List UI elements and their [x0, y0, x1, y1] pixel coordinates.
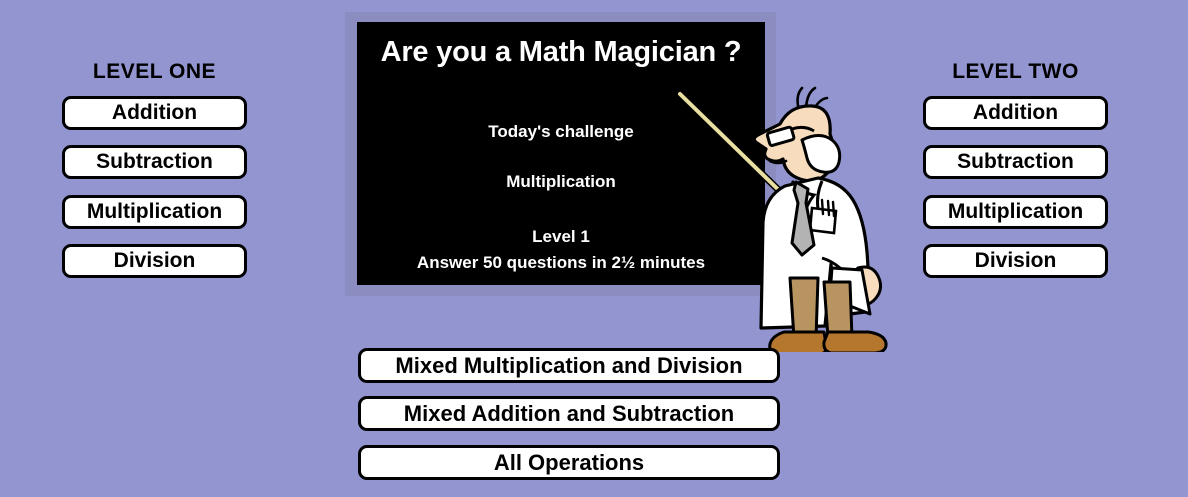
- trousers: [790, 278, 852, 338]
- shoes: [770, 332, 886, 352]
- math-magician-screen: LEVEL ONE Addition Subtraction Multiplic…: [0, 0, 1188, 497]
- mixed-multiplication-division-button[interactable]: Mixed Multiplication and Division: [358, 348, 780, 383]
- level-one-addition-button[interactable]: Addition: [62, 96, 247, 130]
- all-operations-button[interactable]: All Operations: [358, 445, 780, 480]
- level-two-subtraction-button[interactable]: Subtraction: [923, 145, 1108, 179]
- level-one-multiplication-button[interactable]: Multiplication: [62, 195, 247, 229]
- side-hair: [802, 136, 840, 173]
- lab-coat: [761, 178, 868, 328]
- held-paper: [830, 268, 870, 320]
- necktie: [792, 182, 814, 255]
- blackboard-instruction: Answer 50 questions in 2½ minutes: [357, 253, 765, 273]
- blackboard-panel: Are you a Math Magician ? Today's challe…: [357, 22, 765, 285]
- blackboard-level: Level 1: [357, 227, 765, 247]
- blackboard-challenge-label: Today's challenge: [357, 122, 765, 142]
- level-one-division-button[interactable]: Division: [62, 244, 247, 278]
- blackboard-frame: Are you a Math Magician ? Today's challe…: [345, 12, 776, 296]
- hair-wisps: [798, 88, 827, 111]
- blackboard-operation: Multiplication: [357, 172, 765, 192]
- level-one-subtraction-button[interactable]: Subtraction: [62, 145, 247, 179]
- blackboard-title: Are you a Math Magician ?: [357, 36, 765, 69]
- mixed-addition-subtraction-button[interactable]: Mixed Addition and Subtraction: [358, 396, 780, 431]
- level-two-addition-button[interactable]: Addition: [923, 96, 1108, 130]
- level-one-heading: LEVEL ONE: [62, 60, 247, 84]
- level-two-heading: LEVEL TWO: [923, 60, 1108, 84]
- level-two-multiplication-button[interactable]: Multiplication: [923, 195, 1108, 229]
- raised-arm: [772, 186, 824, 238]
- lowered-hand: [848, 267, 881, 305]
- level-two-division-button[interactable]: Division: [923, 244, 1108, 278]
